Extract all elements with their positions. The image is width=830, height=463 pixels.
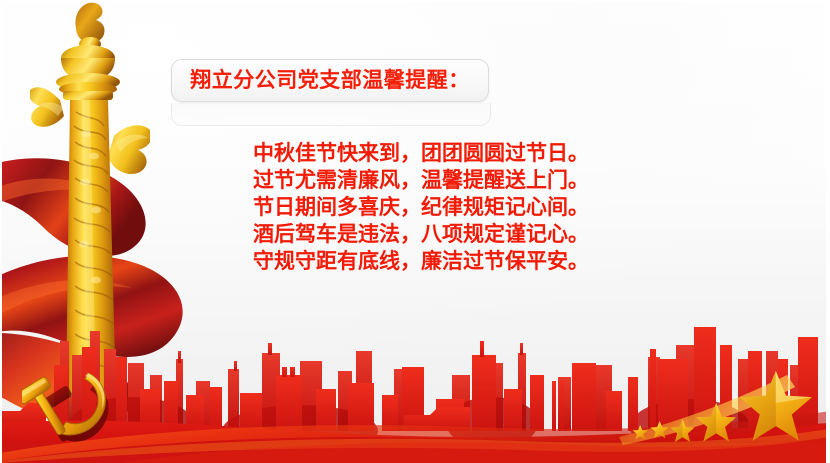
verse-line: 过节尤需清廉风，温馨提醒送上门。 [253, 167, 589, 194]
verse-line: 酒后驾车是违法，八项规定谨记心。 [253, 221, 589, 248]
verse-block: 中秋佳节快来到，团团圆圆过节日。 过节尤需清廉风，温馨提醒送上门。 节日期间多喜… [253, 140, 589, 275]
cpc-hammer-sickle-emblem [22, 369, 142, 455]
gold-star-trail [617, 359, 822, 449]
poster-canvas: 翔立分公司党支部温馨提醒： 中秋佳节快来到，团团圆圆过节日。 过节尤需清廉风，温… [0, 0, 830, 463]
header-title-box: 翔立分公司党支部温馨提醒： [171, 59, 489, 102]
verse-line: 中秋佳节快来到，团团圆圆过节日。 [253, 140, 589, 167]
verse-line: 守规守距有底线，廉洁过节保平安。 [253, 248, 589, 275]
verse-line: 节日期间多喜庆，纪律规矩记心间。 [253, 194, 589, 221]
page-title: 翔立分公司党支部温馨提醒： [190, 70, 470, 91]
